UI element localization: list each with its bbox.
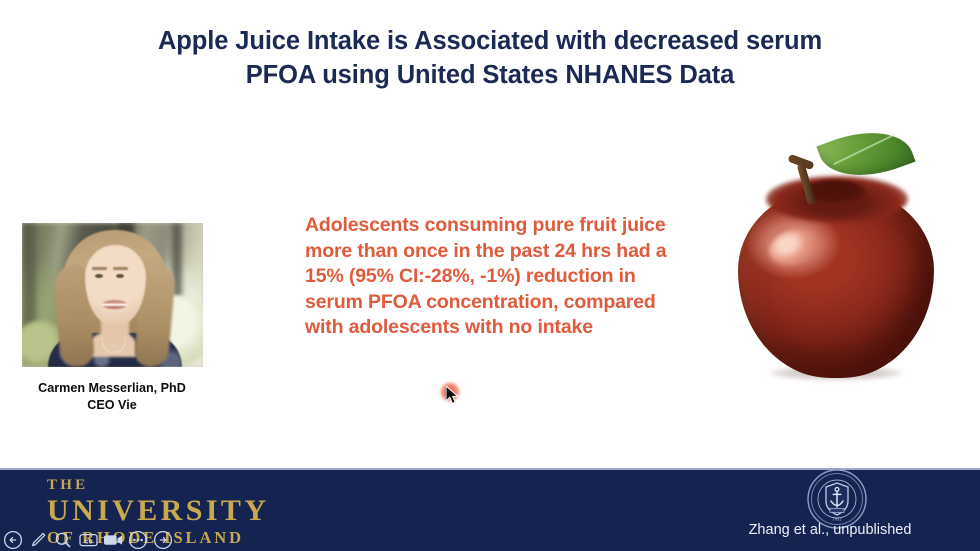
forward-arrow-icon[interactable] [152,529,174,551]
ellipsis-icon[interactable] [127,529,149,551]
wordmark-the: THE [47,478,269,493]
apple-image [724,118,954,388]
source-attribution: Zhang et al., unpublished [700,521,960,539]
portrait-eyebrow-right [113,267,128,270]
svg-text:cc: cc [84,536,92,545]
closed-captions-icon[interactable]: cc [77,529,99,551]
caption-name: Carmen Messerlian, PhD [8,380,216,397]
body-line-3: 15% (95% CI:-28%, -1%) reduction in [305,264,705,290]
portrait-caption: Carmen Messerlian, PhD CEO Vie [8,380,216,414]
slide-title-line-1: Apple Juice Intake is Associated with de… [60,24,920,58]
presentation-slide: Apple Juice Intake is Associated with de… [0,0,980,551]
body-line-2: more than once in the past 24 hrs had a [305,239,705,265]
slide-title: Apple Juice Intake is Associated with de… [60,24,920,92]
body-line-1: Adolescents consuming pure fruit juice [305,213,705,239]
video-camera-icon[interactable] [102,529,124,551]
cursor-arrow-icon [446,386,460,405]
presentation-toolbar[interactable]: cc [2,528,174,551]
portrait-eyebrow-left [92,267,107,270]
portrait-smile [102,300,127,309]
mouse-cursor [440,382,466,408]
magnifier-icon[interactable] [52,529,74,551]
slide-title-line-2: PFOA using United States NHANES Data [60,58,920,92]
slide-body-text: Adolescents consuming pure fruit juice m… [305,213,705,341]
portrait-photo [22,223,203,367]
body-line-4: serum PFOA concentration, compared [305,290,705,316]
back-arrow-icon[interactable] [2,529,24,551]
pen-icon[interactable] [27,529,49,551]
caption-title: CEO Vie [8,397,216,414]
body-line-5: with adolescents with no intake [305,315,705,341]
portrait-face [85,245,146,325]
wordmark-university: UNIVERSITY [47,496,269,526]
portrait-eye-right [116,274,124,278]
portrait-eye-left [95,274,103,278]
